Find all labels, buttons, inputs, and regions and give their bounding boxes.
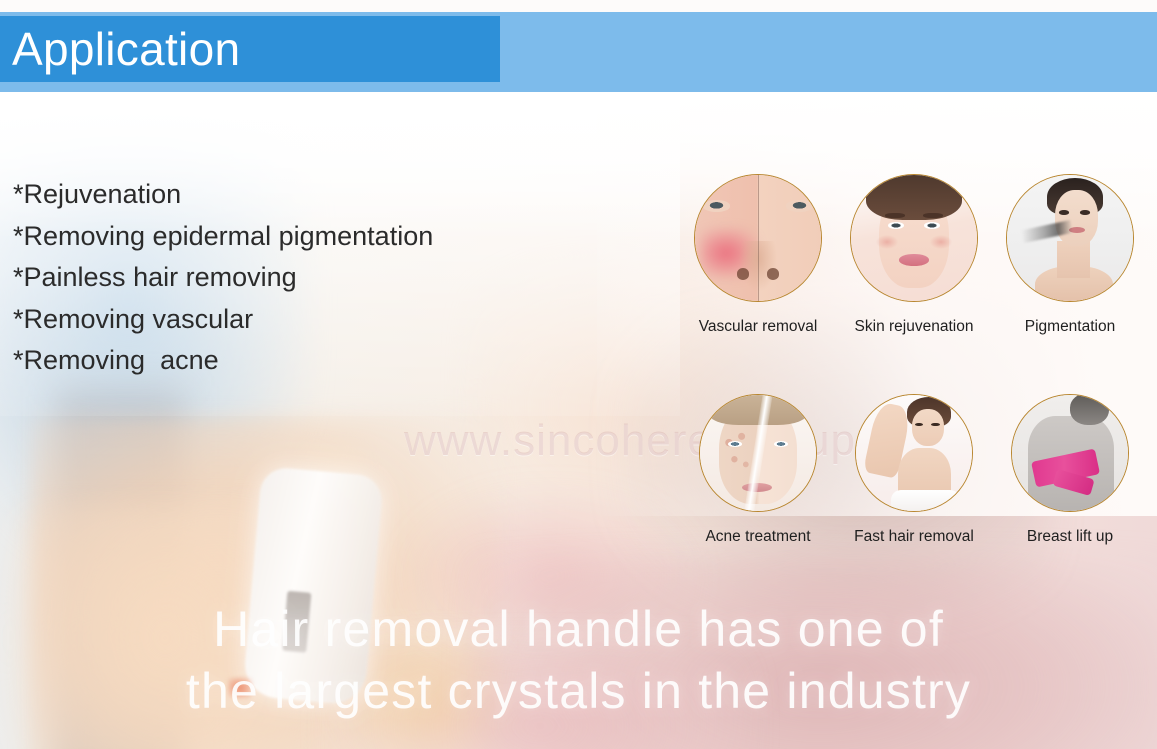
vascular-removal-photo-icon [694,174,822,302]
fast-hair-removal-photo-icon [855,394,973,512]
feature-list-item: *Painless hair removing [13,257,633,299]
application-grid-row: Acne treatment Fast hair removal [680,394,1150,546]
application-slide: Application *Rejuvenation *Removing epid… [0,0,1157,749]
application-item-pigmentation[interactable]: Pigmentation [992,174,1148,336]
tagline-line-1: Hair removal handle has one of [213,601,944,657]
application-item-vascular-removal[interactable]: Vascular removal [680,174,836,336]
application-item-label: Skin rejuvenation [855,318,974,336]
application-item-label: Pigmentation [1025,318,1115,336]
breast-lift-up-photo-icon [1011,394,1129,512]
application-item-breast-lift-up[interactable]: Breast lift up [992,394,1148,546]
application-item-label: Vascular removal [699,318,818,336]
feature-list-item: *Removing vascular [13,299,633,341]
feature-list: *Rejuvenation *Removing epidermal pigmen… [13,174,633,382]
tagline: Hair removal handle has one of the large… [0,598,1157,722]
acne-treatment-photo-icon [699,394,817,512]
application-grid: Vascular removal Skin rejuvenation [680,174,1150,546]
tagline-line-2: the largest crystals in the industry [0,660,1157,722]
application-item-acne-treatment[interactable]: Acne treatment [680,394,836,546]
feature-list-item: *Removing epidermal pigmentation [13,216,633,258]
application-item-label: Breast lift up [1027,528,1113,546]
application-item-fast-hair-removal[interactable]: Fast hair removal [836,394,992,546]
feature-list-item: *Removing acne [13,340,633,382]
application-item-label: Acne treatment [705,528,810,546]
application-grid-row: Vascular removal Skin rejuvenation [680,174,1150,336]
skin-rejuvenation-photo-icon [850,174,978,302]
page-title: Application [12,17,240,81]
feature-list-item: *Rejuvenation [13,174,633,216]
pigmentation-photo-icon [1006,174,1134,302]
application-item-skin-rejuvenation[interactable]: Skin rejuvenation [836,174,992,336]
application-item-label: Fast hair removal [854,528,974,546]
